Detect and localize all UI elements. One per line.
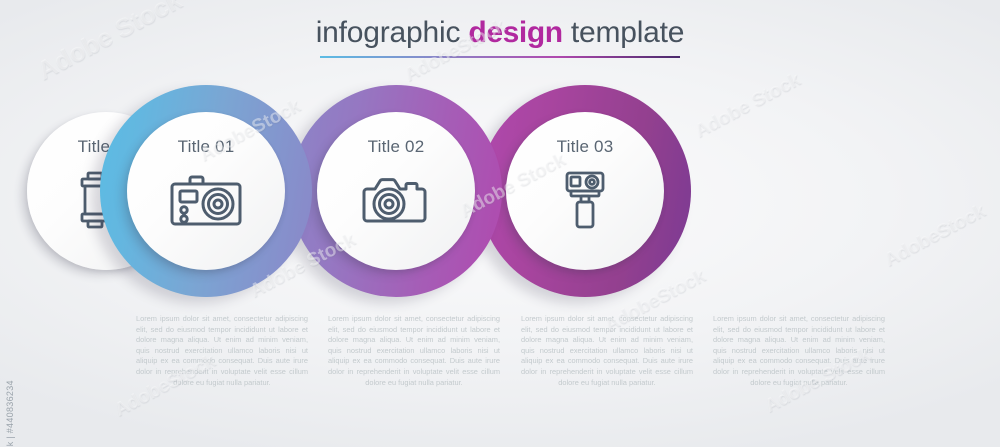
dslr-photo-camera-icon	[359, 169, 433, 231]
step-2-title: Title 02	[368, 137, 425, 157]
step-3-title: Title 03	[557, 137, 614, 157]
step-1-title: Title 01	[178, 137, 235, 157]
step-2-disc[interactable]: Title 02	[317, 112, 475, 270]
step-3-disc[interactable]: Title 03	[506, 112, 664, 270]
title-part-1: infographic	[316, 16, 469, 49]
step-circle-3[interactable]: Title 03	[479, 85, 691, 297]
page-title: infographic design template	[0, 16, 1000, 58]
step-circle-2[interactable]: Title 02	[290, 85, 502, 297]
infographic-canvas: infographic design template Title 01	[0, 0, 1000, 447]
step-2-body-text: Lorem ipsum dolor sit amet, consectetur …	[328, 314, 500, 388]
step-3-body-text: Lorem ipsum dolor sit amet, consectetur …	[521, 314, 693, 388]
step-descriptions-row: Lorem ipsum dolor sit amet, consectetur …	[0, 314, 1000, 414]
step-circle-1[interactable]: Title 01	[100, 85, 312, 297]
title-line: infographic design template	[0, 16, 1000, 50]
title-part-2: template	[563, 16, 685, 49]
title-accent-word: design	[468, 16, 562, 49]
title-underline-rule	[320, 56, 680, 58]
compact-digital-camera-icon	[169, 169, 243, 231]
step-4-body-text: Lorem ipsum dolor sit amet, consectetur …	[713, 314, 885, 388]
gimbal-stabilizer-action-camera-icon	[548, 169, 622, 231]
step-1-body-text: Lorem ipsum dolor sit amet, consectetur …	[136, 314, 308, 388]
step-1-disc[interactable]: Title 01	[127, 112, 285, 270]
step-circles-row: Title 01 Title 02	[0, 85, 1000, 297]
